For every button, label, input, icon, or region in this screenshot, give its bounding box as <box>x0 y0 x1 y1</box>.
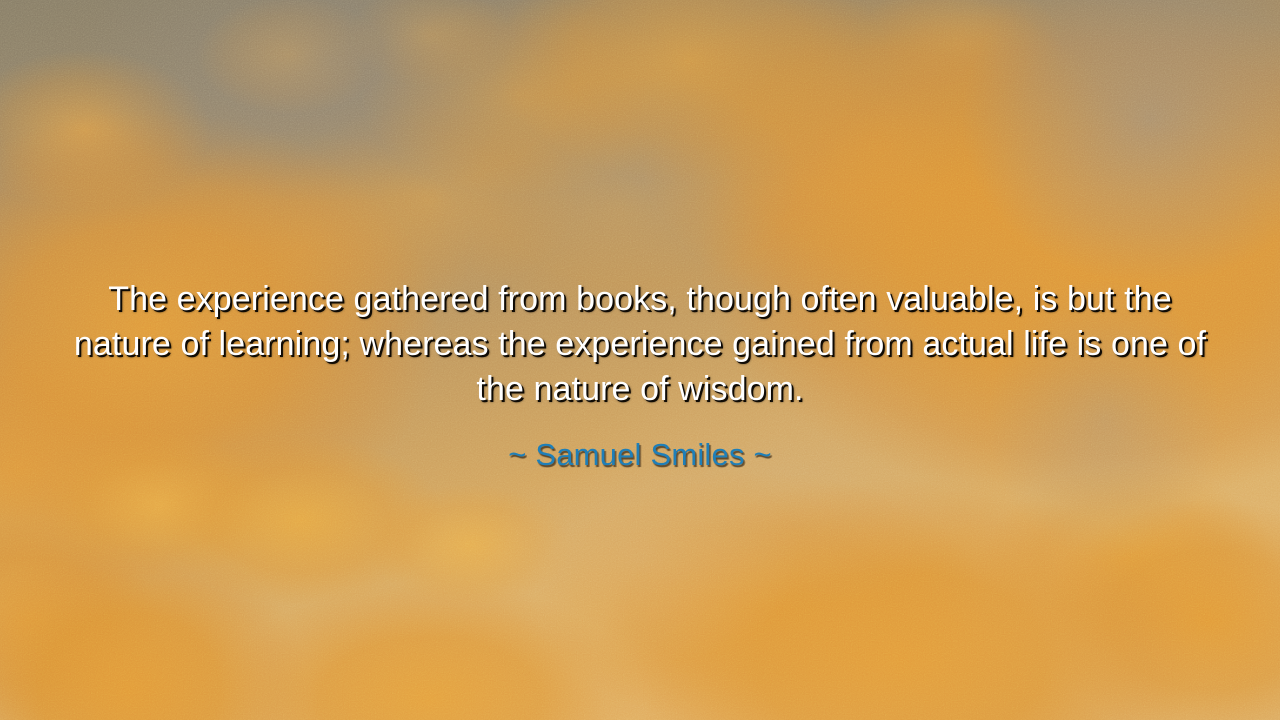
quote-slide: The experience gathered from books, thou… <box>0 0 1280 720</box>
quote-text-block: The experience gathered from books, thou… <box>70 277 1210 474</box>
quote-text: The experience gathered from books, thou… <box>70 277 1210 412</box>
quote-attribution: ~ Samuel Smiles ~ <box>70 412 1210 474</box>
